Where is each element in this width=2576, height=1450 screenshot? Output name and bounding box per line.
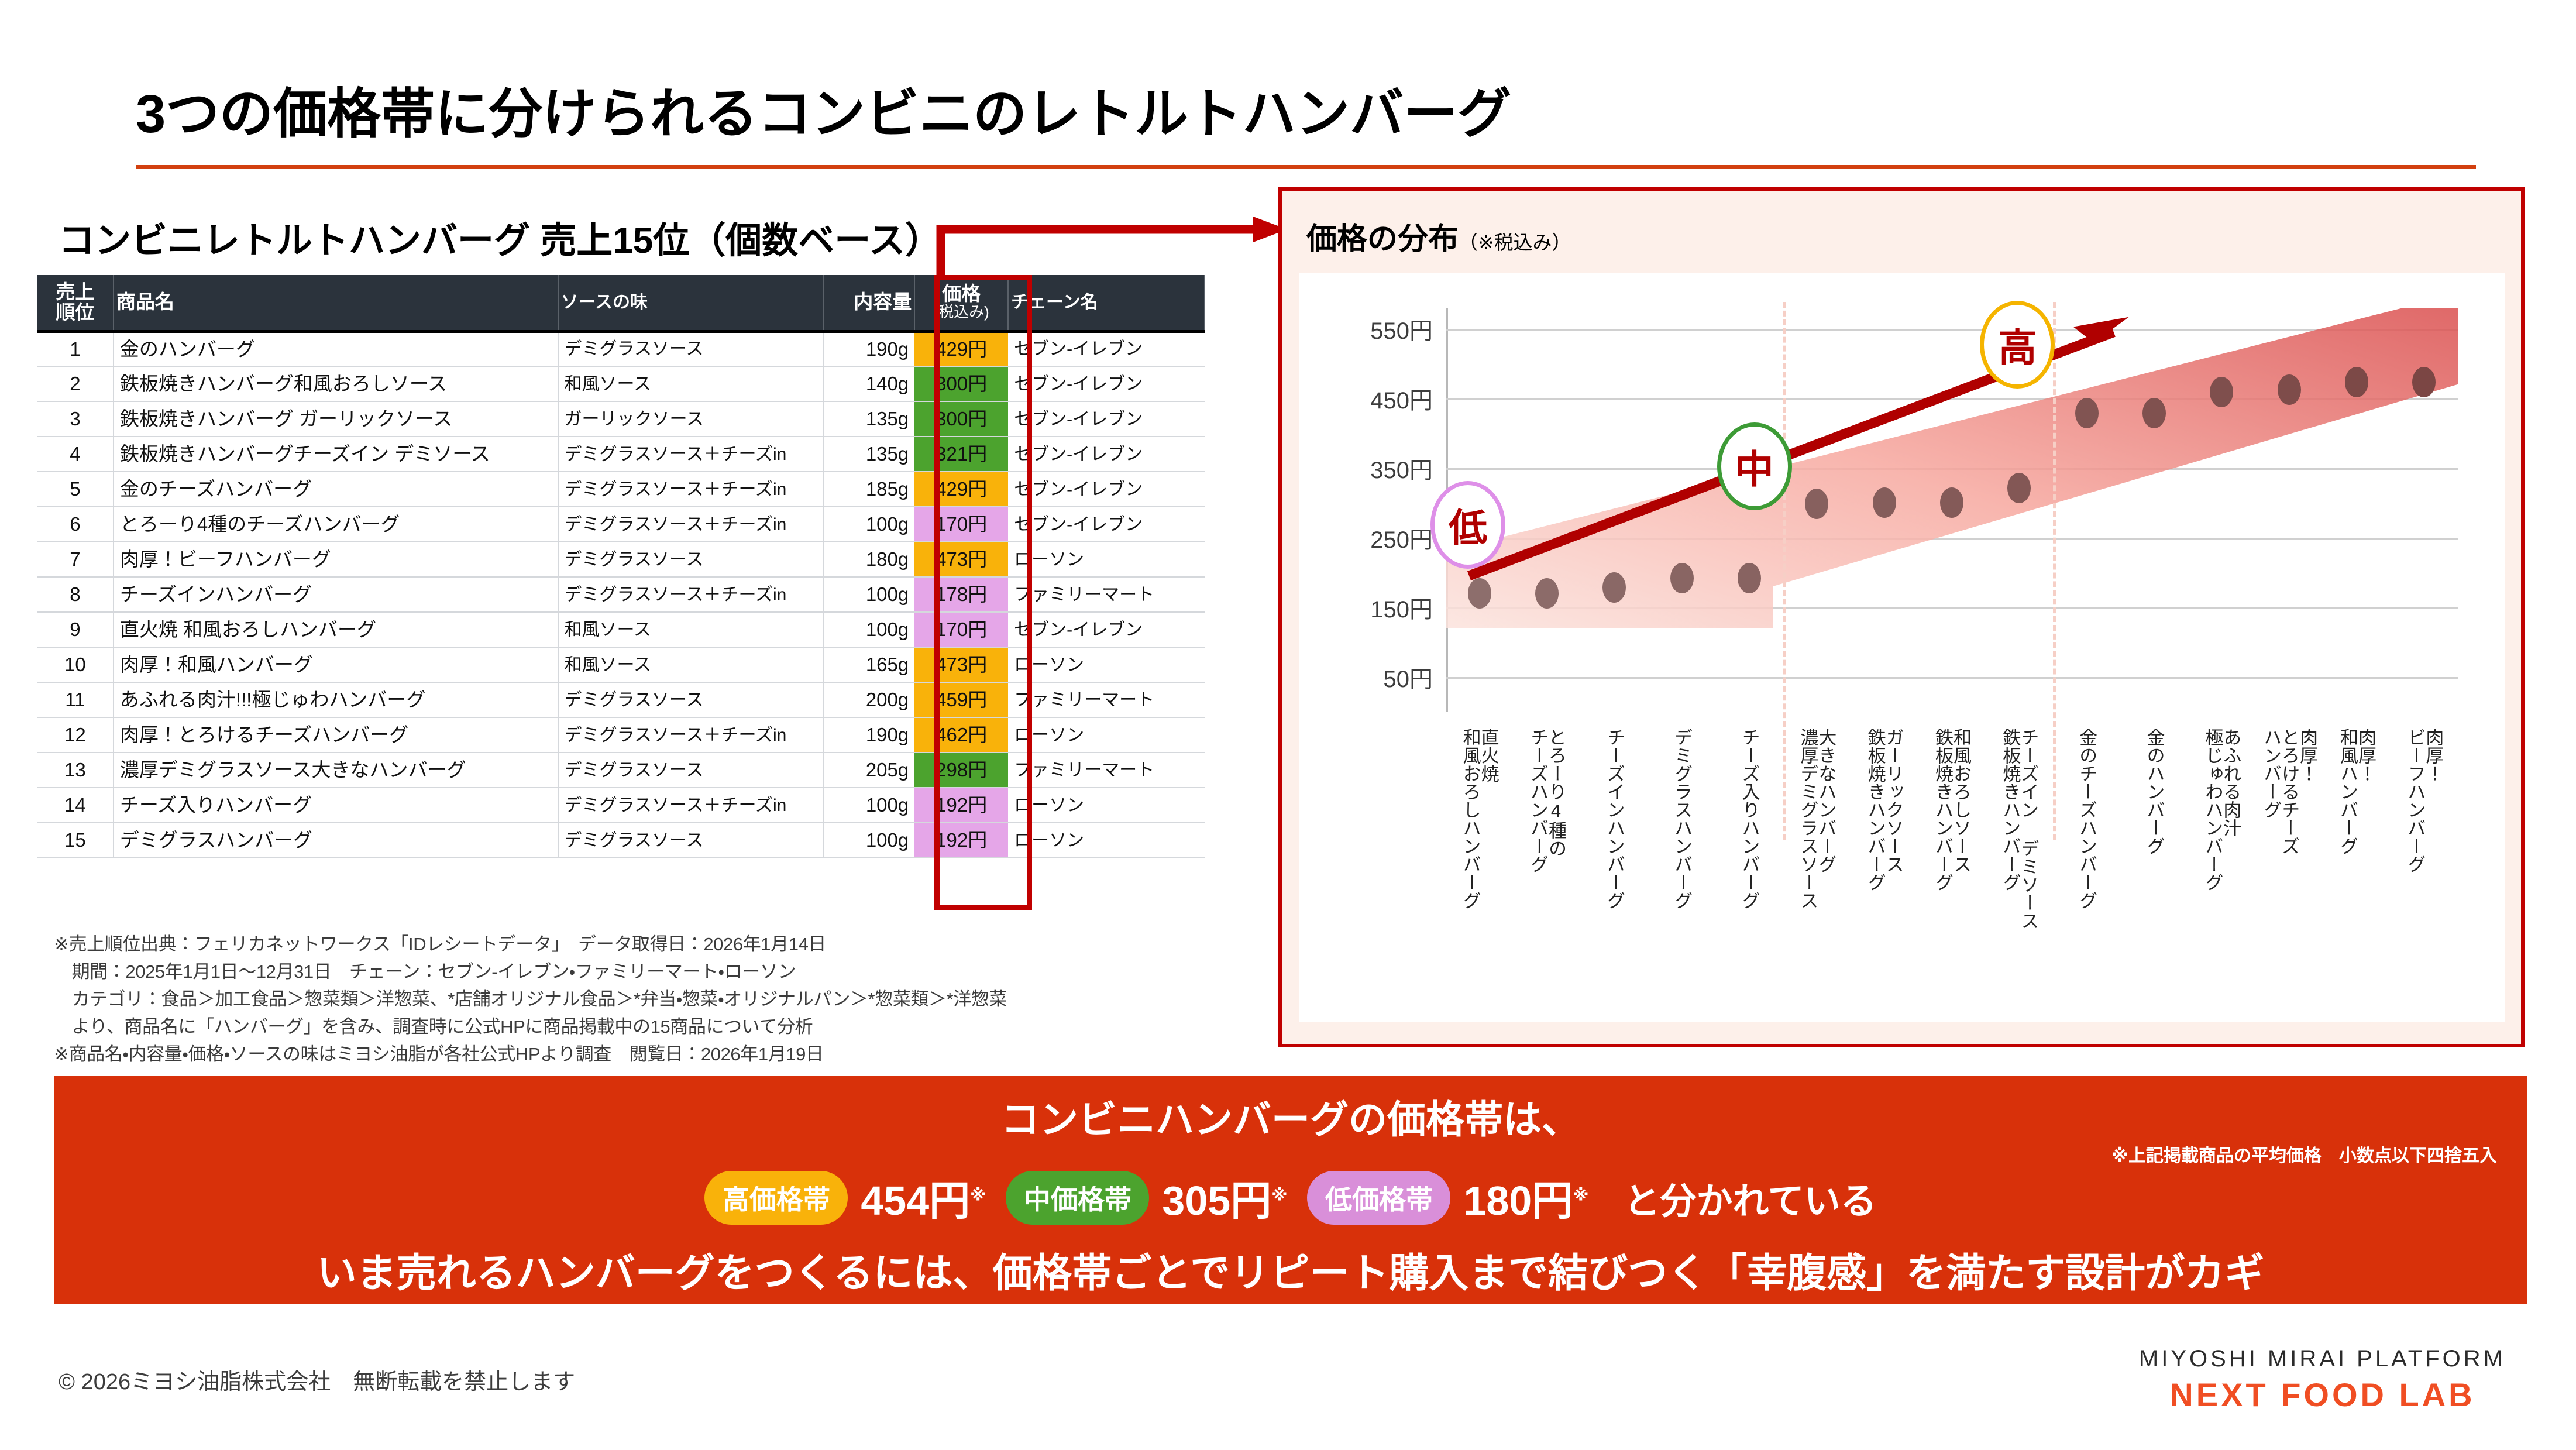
x-tick-label: とろーり4種のチーズハンバーグ [1529,728,1565,873]
cell-sauce: デミグラスソース＋チーズin [558,437,824,472]
cell-chain: ローソン [1008,717,1205,753]
y-tick-label: 450円 [1370,382,1433,415]
y-tick-label: 250円 [1370,521,1433,555]
brand-logo: MIYOSHI MIRAI PLATFORM NEXT FOOD LAB [2139,1346,2506,1414]
table-row: 4鉄板焼きハンバーグチーズイン デミソースデミグラスソース＋チーズin135g3… [37,437,1205,472]
cell-product-name: デミグラスハンバーグ [114,823,558,858]
table-row: 11あふれる肉汁!!!極じゅわハンバーグデミグラスソース200g459円ファミリ… [37,682,1205,717]
banner-tail-text: と分かれている [1624,1171,1876,1224]
pill-label-low: 低価格帯 [1307,1171,1450,1225]
cell-chain: ローソン [1008,823,1205,858]
banner-subline: いま売れるハンバーグをつくるには、価格帯ごとでリピート購入まで結びつく「幸腹感」… [54,1241,2527,1298]
cell-rank: 7 [37,542,114,577]
pill-label-high: 高価格帯 [704,1171,848,1225]
data-point [2210,377,2233,407]
cell-product-name: 肉厚！和風ハンバーグ [114,647,558,682]
cell-sauce: デミグラスソース＋チーズin [558,507,824,542]
cell-size: 100g [824,612,914,647]
table-row: 7肉厚！ビーフハンバーグデミグラスソース180g473円ローソン [37,542,1205,577]
th-chain: チェーン名 [1008,275,1205,331]
pill-label-mid: 中価格帯 [1006,1171,1149,1225]
th-size: 内容量 [824,275,914,331]
cell-chain: ローソン [1008,542,1205,577]
infographic-page: 3つの価格帯に分けられるコンビニのレトルトハンバーグ コンビニレトルトハンバーグ… [0,0,2576,1450]
x-tick-label: ガーリックソース鉄板焼きハンバーグ [1866,728,1903,891]
cell-product-name: 肉厚！ビーフハンバーグ [114,542,558,577]
cell-price: 321円 [914,437,1008,472]
cell-size: 135g [824,437,914,472]
y-tick-label: 350円 [1370,451,1433,485]
x-tick-label: 肉厚！和風ハンバーグ [2338,728,2375,855]
table-heading: コンビニレトルトハンバーグ 売上15位（個数ベース） [59,211,941,263]
table-row: 15デミグラスハンバーグデミグラスソース100g192円ローソン [37,823,1205,858]
band-badge-mid: 中 [1717,422,1792,510]
cell-rank: 6 [37,507,114,542]
cell-size: 100g [824,577,914,612]
cell-sauce: 和風ソース [558,647,824,682]
cell-sauce: デミグラスソース [558,542,824,577]
y-tick-label: 550円 [1370,312,1433,346]
x-tick-label: デミグラスハンバーグ [1673,728,1691,909]
price-band-pills: 高価格帯454円※中価格帯305円※低価格帯180円※と分かれている [54,1168,2527,1227]
cell-sauce: デミグラスソース [558,682,824,717]
data-point [1670,563,1694,593]
th-price: 価格 (税込み) [914,275,1008,331]
table-row: 9直火焼 和風おろしハンバーグ和風ソース100g170円セブン-イレブン [37,612,1205,647]
cell-product-name: 濃厚デミグラスソース大きなハンバーグ [114,753,558,788]
plot-area: 50円150円250円350円450円550円 低中高 直火焼和風おろしハンバー… [1299,273,2505,1022]
copyright-text: © 2026ミヨシ油脂株式会社 無断転載を禁止します [59,1363,575,1396]
table-header-row: 売上 順位 商品名 ソースの味 内容量 価格 (税込み) チェーン名 [37,275,1205,331]
x-tick-label: 肉厚！とろけるチーズハンバーグ [2262,728,2316,855]
cell-rank: 11 [37,682,114,717]
data-point [1535,578,1559,609]
chart-panel: 価格の分布（※税込み） 50円150円250円350円450円550円 低中高 … [1278,187,2525,1047]
cell-product-name: 直火焼 和風おろしハンバーグ [114,612,558,647]
cell-size: 185g [824,472,914,507]
cell-size: 100g [824,788,914,823]
table-row: 12肉厚！とろけるチーズハンバーグデミグラスソース＋チーズin190g462円ロ… [37,717,1205,753]
title-divider [136,165,2476,169]
th-product-name: 商品名 [114,275,558,331]
band-badge-low: 低 [1430,481,1505,569]
cell-rank: 5 [37,472,114,507]
table-row: 13濃厚デミグラスソース大きなハンバーグデミグラスソース205g298円ファミリ… [37,753,1205,788]
data-point [1805,489,1828,519]
cell-rank: 3 [37,401,114,437]
cell-price: 178円 [914,577,1008,612]
cell-rank: 15 [37,823,114,858]
cell-sauce: デミグラスソース＋チーズin [558,472,824,507]
table-row: 1金のハンバーグデミグラスソース190g429円セブン-イレブン [37,331,1205,366]
th-sauce: ソースの味 [558,275,824,331]
cell-product-name: 肉厚！とろけるチーズハンバーグ [114,717,558,753]
cell-rank: 2 [37,366,114,401]
cell-price: 473円 [914,647,1008,682]
cell-chain: セブン-イレブン [1008,366,1205,401]
cell-size: 100g [824,507,914,542]
cell-rank: 12 [37,717,114,753]
cell-sauce: 和風ソース [558,366,824,401]
data-point [1602,572,1626,603]
cell-size: 135g [824,401,914,437]
cell-price: 170円 [914,612,1008,647]
data-point [1940,487,1963,518]
cell-price: 192円 [914,823,1008,858]
chart-title: 価格の分布（※税込み） [1306,214,1571,258]
data-point [2142,398,2166,428]
cell-rank: 8 [37,577,114,612]
band-badge-high: 高 [1980,301,2055,389]
x-tick-label: チーズイン デミソース鉄板焼きハンバーグ [2001,728,2037,930]
data-point [1873,487,1896,518]
cell-sauce: デミグラスソース [558,753,824,788]
cell-product-name: 鉄板焼きハンバーグ ガーリックソース [114,401,558,437]
cell-rank: 10 [37,647,114,682]
cell-chain: セブン-イレブン [1008,507,1205,542]
cell-chain: セブン-イレブン [1008,401,1205,437]
logo-lab-text: NEXT FOOD LAB [2139,1376,2506,1414]
data-point [2345,367,2368,397]
logo-platform-text: MIYOSHI MIRAI PLATFORM [2139,1346,2506,1372]
pill-value-mid: 305円※ [1162,1168,1287,1227]
banner-headline: コンビニハンバーグの価格帯は、 [54,1088,2527,1145]
y-tick-label: 150円 [1370,590,1433,624]
cell-price: 192円 [914,788,1008,823]
y-tick-label: 50円 [1384,660,1433,694]
cell-price: 300円 [914,401,1008,437]
cell-product-name: あふれる肉汁!!!極じゅわハンバーグ [114,682,558,717]
price-band-group-high: 高価格帯454円※ [704,1168,1006,1227]
cell-size: 190g [824,717,914,753]
cell-sauce: デミグラスソース＋チーズin [558,717,824,753]
cell-sauce: デミグラスソース [558,331,824,366]
cell-size: 100g [824,823,914,858]
x-tick-label: チーズ入りハンバーグ [1741,728,1759,909]
data-point [2412,367,2436,397]
cell-sauce: デミグラスソース [558,823,824,858]
x-tick-label: 金のハンバーグ [2145,728,2164,855]
cell-product-name: チーズインハンバーグ [114,577,558,612]
cell-sauce: 和風ソース [558,612,824,647]
cell-rank: 14 [37,788,114,823]
scatter-plot: 50円150円250円350円450円550円 低中高 直火焼和風おろしハンバー… [1446,308,2458,712]
cell-rank: 4 [37,437,114,472]
cell-chain: セブン-イレブン [1008,331,1205,366]
cell-product-name: 金のチーズハンバーグ [114,472,558,507]
data-point [1468,578,1491,609]
data-point [2075,398,2099,428]
cell-product-name: 鉄板焼きハンバーグ和風おろしソース [114,366,558,401]
cell-price: 459円 [914,682,1008,717]
table-row: 6とろーり4種のチーズハンバーグデミグラスソース＋チーズin100g170円セブ… [37,507,1205,542]
cell-size: 140g [824,366,914,401]
cell-chain: セブン-イレブン [1008,437,1205,472]
cell-chain: セブン-イレブン [1008,472,1205,507]
table-row: 3鉄板焼きハンバーグ ガーリックソースガーリックソース135g300円セブン-イ… [37,401,1205,437]
table-row: 8チーズインハンバーグデミグラスソース＋チーズin100g178円ファミリーマー… [37,577,1205,612]
cell-price: 298円 [914,753,1008,788]
th-rank: 売上 順位 [37,275,114,331]
table-row: 10肉厚！和風ハンバーグ和風ソース165g473円ローソン [37,647,1205,682]
banner-note: ※上記掲載商品の平均価格 小数点以下四捨五入 [2111,1141,2497,1167]
price-band-group-low: 低価格帯180円※ [1307,1168,1608,1227]
cell-product-name: とろーり4種のチーズハンバーグ [114,507,558,542]
cell-sauce: デミグラスソース＋チーズin [558,577,824,612]
page-title: 3つの価格帯に分けられるコンビニのレトルトハンバーグ [136,70,1511,148]
cell-size: 165g [824,647,914,682]
cell-chain: ローソン [1008,647,1205,682]
cell-price: 473円 [914,542,1008,577]
cell-price: 170円 [914,507,1008,542]
cell-product-name: 金のハンバーグ [114,331,558,366]
cell-price: 429円 [914,331,1008,366]
chart-title-note: （※税込み） [1459,232,1571,253]
cell-product-name: チーズ入りハンバーグ [114,788,558,823]
cell-rank: 1 [37,331,114,366]
cell-product-name: 鉄板焼きハンバーグチーズイン デミソース [114,437,558,472]
cell-chain: セブン-イレブン [1008,612,1205,647]
summary-banner: コンビニハンバーグの価格帯は、 ※上記掲載商品の平均価格 小数点以下四捨五入 高… [54,1076,2527,1304]
x-tick-label: あふれる肉汁極じゅわハンバーグ [2203,728,2240,891]
x-tick-label: 和風おろしソース鉄板焼きハンバーグ [1934,728,1970,891]
cell-price: 462円 [914,717,1008,753]
x-tick-label: 大きなハンバーグ濃厚デミグラスソース [1798,728,1835,909]
cell-size: 200g [824,682,914,717]
cell-size: 190g [824,331,914,366]
pill-value-low: 180円※ [1463,1168,1588,1227]
table-footnotes: ※売上順位出典：フェリカネットワークス「IDレシートデータ」 データ取得日：20… [54,930,1007,1068]
cell-sauce: デミグラスソース＋チーズin [558,788,824,823]
cell-size: 205g [824,753,914,788]
cell-rank: 13 [37,753,114,788]
cell-chain: ローソン [1008,788,1205,823]
cell-size: 180g [824,542,914,577]
price-band-group-mid: 中価格帯305円※ [1006,1168,1307,1227]
cell-rank: 9 [37,612,114,647]
cell-price: 300円 [914,366,1008,401]
x-tick-label: 直火焼和風おろしハンバーグ [1461,728,1498,909]
cell-chain: ファミリーマート [1008,753,1205,788]
table-row: 5金のチーズハンバーグデミグラスソース＋チーズin185g429円セブン-イレブ… [37,472,1205,507]
table-body: 1金のハンバーグデミグラスソース190g429円セブン-イレブン2鉄板焼きハンバ… [37,331,1205,858]
x-tick-label: チーズインハンバーグ [1605,728,1624,909]
table-row: 14チーズ入りハンバーグデミグラスソース＋チーズin100g192円ローソン [37,788,1205,823]
ranking-table: 売上 順位 商品名 ソースの味 内容量 価格 (税込み) チェーン名 1金のハン… [37,275,1205,858]
cell-sauce: ガーリックソース [558,401,824,437]
data-point [2278,374,2301,405]
table-row: 2鉄板焼きハンバーグ和風おろしソース和風ソース140g300円セブン-イレブン [37,366,1205,401]
data-point [1738,563,1761,593]
x-tick-label: 金のチーズハンバーグ [2078,728,2096,909]
data-point [2007,473,2031,503]
pill-value-high: 454円※ [861,1168,986,1227]
cell-chain: ファミリーマート [1008,682,1205,717]
cell-price: 429円 [914,472,1008,507]
cell-chain: ファミリーマート [1008,577,1205,612]
x-tick-label: 肉厚！ビーフハンバーグ [2406,728,2442,873]
